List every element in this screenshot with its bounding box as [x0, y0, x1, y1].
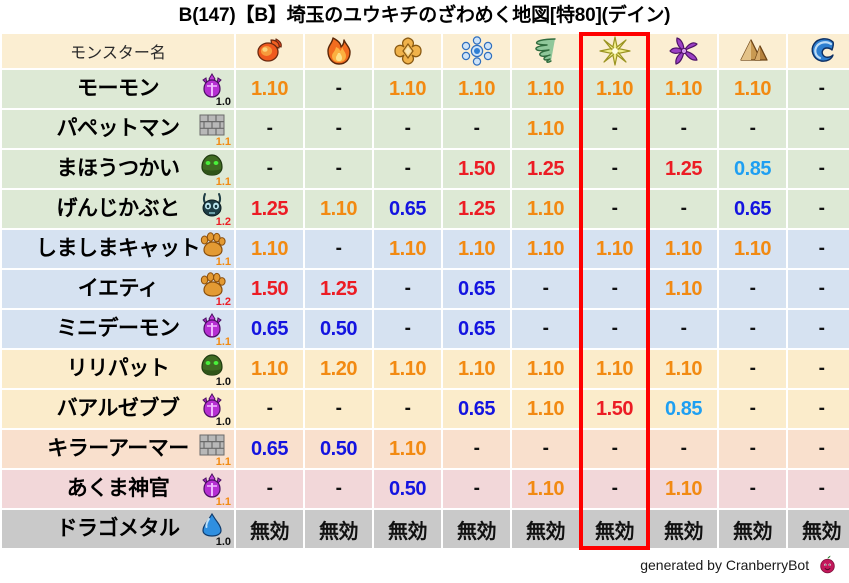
resistance-cell: 1.10 [236, 230, 303, 268]
resistance-cell: 1.10 [374, 350, 441, 388]
monster-name-label: バアルゼブブ [57, 390, 180, 428]
snowflake-icon [460, 36, 494, 66]
resistance-cell: - [719, 350, 786, 388]
page-title: B(147)【B】埼玉のユウキチのざわめく地図[特80](デイン) [0, 0, 849, 32]
resistance-cell: 1.10 [443, 230, 510, 268]
resistance-cell: 1.10 [443, 350, 510, 388]
resistance-cell: - [788, 390, 849, 428]
resistance-cell: 無効 [236, 510, 303, 548]
table-row: げんじかぶと 1.21.251.100.651.251.10--0.65- [2, 190, 849, 228]
resistance-cell: 1.10 [512, 190, 579, 228]
flame-icon [322, 36, 356, 66]
resistance-cell: - [788, 350, 849, 388]
resistance-cell: - [374, 390, 441, 428]
table-row: ドラゴメタル 1.0無効無効無効無効無効無効無効無効無効 [2, 510, 849, 548]
monster-version-label: 1.1 [216, 457, 231, 468]
resistance-cell: 1.25 [650, 150, 717, 188]
resistance-cell: 1.50 [581, 390, 648, 428]
resistance-cell: 1.10 [719, 230, 786, 268]
resistance-cell: - [305, 110, 372, 148]
resistance-cell: 0.85 [650, 390, 717, 428]
resistance-cell: - [581, 430, 648, 468]
resistance-cell: 0.65 [443, 270, 510, 308]
resistance-cell: 1.25 [443, 190, 510, 228]
resistance-cell: 無効 [650, 510, 717, 548]
tornado-icon [529, 36, 563, 66]
resistance-cell: 1.10 [581, 70, 648, 108]
table-row: イエティ 1.21.501.25-0.65--1.10-- [2, 270, 849, 308]
resistance-cell: - [788, 310, 849, 348]
resistance-cell: 無効 [719, 510, 786, 548]
table-head: モンスター名 [2, 34, 849, 68]
element-header-bagi [443, 34, 510, 68]
resistance-cell: 1.10 [581, 230, 648, 268]
monster-name-label: しましまキャット [36, 230, 200, 268]
resistance-cell: 1.10 [512, 110, 579, 148]
resistance-cell: 0.65 [719, 190, 786, 228]
resistance-cell: 1.10 [512, 470, 579, 508]
resistance-cell: 1.10 [650, 70, 717, 108]
resistance-cell: 1.10 [719, 70, 786, 108]
resistance-cell: - [236, 150, 303, 188]
monster-name-label: パペットマン [57, 110, 180, 148]
resistance-cell: - [512, 430, 579, 468]
monster-name-cell: モーモン 1.0 [2, 70, 234, 108]
resistance-cell: - [788, 430, 849, 468]
monster-version-label: 1.0 [216, 97, 231, 108]
monster-version-label: 1.1 [216, 177, 231, 188]
resistance-cell: - [719, 430, 786, 468]
resistance-cell: 1.10 [374, 430, 441, 468]
resistance-cell: 1.10 [374, 70, 441, 108]
resistance-cell: - [305, 390, 372, 428]
resistance-cell: - [581, 110, 648, 148]
resistance-cell: 1.10 [236, 70, 303, 108]
monster-name-cell: キラーアーマー 1.1 [2, 430, 234, 468]
resistance-cell: - [581, 190, 648, 228]
monster-name-label: ドラゴメタル [57, 510, 180, 548]
monster-name-label: まほうつかい [57, 150, 180, 188]
resistance-cell: 1.10 [512, 350, 579, 388]
resistance-cell: 1.10 [512, 390, 579, 428]
resistance-cell: - [788, 110, 849, 148]
resistance-cell: - [650, 310, 717, 348]
resistance-cell: 1.20 [305, 350, 372, 388]
table-row: あくま神官 1.1--0.50-1.10-1.10-- [2, 470, 849, 508]
resistance-cell: - [788, 470, 849, 508]
resistance-cell: 0.50 [305, 430, 372, 468]
monster-name-label: キラーアーマー [47, 430, 188, 468]
monster-version-label: 1.1 [216, 137, 231, 148]
resistance-cell: 1.25 [512, 150, 579, 188]
element-header-dorma [512, 34, 579, 68]
monster-version-label: 1.2 [216, 297, 231, 308]
monster-name-cell: まほうつかい 1.1 [2, 150, 234, 188]
resistance-cell: 無効 [443, 510, 510, 548]
table-body: モーモン 1.01.10-1.101.101.101.101.101.10-パペ… [2, 70, 849, 548]
fire-ball-icon [253, 36, 287, 66]
table-row: リリパット 1.01.101.201.101.101.101.101.10-- [2, 350, 849, 388]
resistance-cell: 0.65 [236, 430, 303, 468]
resistance-cell: - [581, 310, 648, 348]
table-row: ミニデーモン 1.10.650.50-0.65----- [2, 310, 849, 348]
monster-name-label: イエティ [78, 270, 159, 308]
footer: generated by CranberryBot [640, 555, 837, 577]
resistance-cell: 1.50 [443, 150, 510, 188]
resistance-cell: 無効 [581, 510, 648, 548]
resistance-cell: 0.65 [443, 390, 510, 428]
monster-name-cell: ミニデーモン 1.1 [2, 310, 234, 348]
starburst-icon [598, 36, 632, 66]
wave-icon [805, 36, 839, 66]
monster-name-cell: げんじかぶと 1.2 [2, 190, 234, 228]
resistance-cell: - [581, 270, 648, 308]
resistance-cell: - [719, 470, 786, 508]
resistance-cell: - [719, 310, 786, 348]
resistance-cell: 0.50 [305, 310, 372, 348]
cranberry-icon [818, 555, 837, 577]
monster-name-cell: しましまキャット 1.1 [2, 230, 234, 268]
monster-name-label: ミニデーモン [57, 310, 180, 348]
monster-version-label: 1.0 [216, 377, 231, 388]
resistance-cell: - [305, 150, 372, 188]
monster-name-cell: リリパット 1.0 [2, 350, 234, 388]
resistance-cell: 1.10 [305, 190, 372, 228]
footer-label: generated by CranberryBot [640, 557, 809, 573]
resistance-cell: - [788, 270, 849, 308]
resistance-cell: 1.50 [236, 270, 303, 308]
table-row: バアルゼブブ 1.0---0.651.101.500.85-- [2, 390, 849, 428]
resistance-cell: - [236, 390, 303, 428]
element-header-hyado [374, 34, 441, 68]
resistance-cell: 1.10 [581, 350, 648, 388]
monster-name-label: あくま神官 [67, 470, 170, 508]
resistance-cell: - [443, 470, 510, 508]
table-row: モーモン 1.01.10-1.101.101.101.101.101.10- [2, 70, 849, 108]
resistance-cell: - [581, 150, 648, 188]
resistance-cell: - [719, 110, 786, 148]
resistance-cell: 1.10 [650, 230, 717, 268]
monster-version-label: 1.1 [216, 497, 231, 508]
resistance-cell: 0.65 [374, 190, 441, 228]
resistance-cell: - [443, 430, 510, 468]
resistance-cell: 1.10 [512, 70, 579, 108]
table-row: まほうつかい 1.1---1.501.25-1.250.85- [2, 150, 849, 188]
resistance-cell: - [719, 270, 786, 308]
monster-name-cell: バアルゼブブ 1.0 [2, 390, 234, 428]
resistance-cell: - [374, 270, 441, 308]
resistance-cell: - [581, 470, 648, 508]
resistance-cell: - [305, 470, 372, 508]
resistance-cell: 1.10 [650, 470, 717, 508]
monster-name-cell: あくま神官 1.1 [2, 470, 234, 508]
resistance-cell: 0.65 [236, 310, 303, 348]
resistance-cell: - [512, 270, 579, 308]
monster-version-label: 1.0 [216, 537, 231, 548]
resistance-cell: 無効 [512, 510, 579, 548]
resistance-cell: - [374, 310, 441, 348]
resistance-cell: 0.50 [374, 470, 441, 508]
resistance-table-wrap: モンスター名 [0, 32, 849, 550]
resistance-cell: - [305, 70, 372, 108]
resistance-cell: - [788, 230, 849, 268]
resistance-cell: - [719, 390, 786, 428]
monster-name-cell: イエティ 1.2 [2, 270, 234, 308]
resistance-cell: 1.10 [236, 350, 303, 388]
resistance-table: モンスター名 [0, 32, 849, 550]
resistance-cell: 無効 [788, 510, 849, 548]
ice-crystal-icon [391, 36, 425, 66]
monster-version-label: 1.2 [216, 217, 231, 228]
resistance-cell: - [305, 230, 372, 268]
resistance-cell: - [374, 110, 441, 148]
table-row: パペットマン 1.1----1.10---- [2, 110, 849, 148]
resistance-cell: 1.10 [650, 270, 717, 308]
resistance-cell: - [788, 70, 849, 108]
table-row: キラーアーマー 1.10.650.501.10------ [2, 430, 849, 468]
resistance-cell: 1.10 [443, 70, 510, 108]
resistance-cell: - [236, 110, 303, 148]
resistance-cell: 1.10 [650, 350, 717, 388]
resistance-cell: 1.10 [512, 230, 579, 268]
resistance-cell: 無効 [374, 510, 441, 548]
element-header-dein [581, 34, 648, 68]
monster-version-label: 1.0 [216, 417, 231, 428]
monster-name-cell: ドラゴメタル 1.0 [2, 510, 234, 548]
resistance-cell: - [443, 110, 510, 148]
header-row: モンスター名 [2, 34, 849, 68]
element-header-io [650, 34, 717, 68]
element-header-mera [236, 34, 303, 68]
mountain-icon [736, 36, 770, 66]
resistance-cell: 0.65 [443, 310, 510, 348]
element-header-mera2 [788, 34, 849, 68]
monster-name-label: リリパット [67, 350, 170, 388]
resistance-cell: 無効 [305, 510, 372, 548]
resistance-cell: - [374, 150, 441, 188]
element-header-gira [305, 34, 372, 68]
resistance-cell: - [512, 310, 579, 348]
monster-name-cell: パペットマン 1.1 [2, 110, 234, 148]
monster-name-label: モーモン [77, 70, 159, 108]
resistance-cell: 0.85 [719, 150, 786, 188]
resistance-cell: - [788, 190, 849, 228]
resistance-cell: - [788, 150, 849, 188]
resistance-cell: - [650, 430, 717, 468]
resistance-cell: - [650, 110, 717, 148]
table-row: しましまキャット 1.11.10-1.101.101.101.101.101.1… [2, 230, 849, 268]
resistance-cell: - [650, 190, 717, 228]
monster-version-label: 1.1 [216, 337, 231, 348]
pinwheel-icon [667, 36, 701, 66]
resistance-cell: 1.25 [305, 270, 372, 308]
resistance-cell: 1.25 [236, 190, 303, 228]
monster-name-header: モンスター名 [2, 34, 234, 68]
resistance-cell: - [236, 470, 303, 508]
monster-version-label: 1.1 [216, 257, 231, 268]
resistance-cell: 1.10 [374, 230, 441, 268]
monster-name-label: げんじかぶと [57, 190, 180, 228]
element-header-jiba [719, 34, 786, 68]
